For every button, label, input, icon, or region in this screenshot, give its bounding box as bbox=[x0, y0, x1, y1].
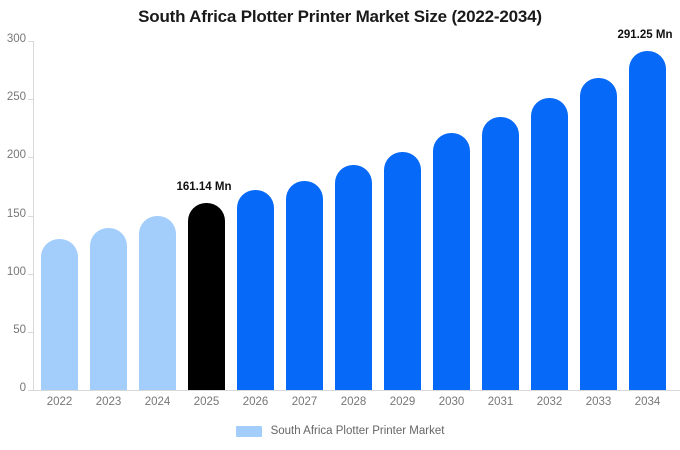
legend-swatch-icon bbox=[236, 426, 262, 437]
y-axis-tick-label: 300 bbox=[0, 33, 26, 45]
x-axis-tick-label: 2029 bbox=[384, 396, 421, 408]
chart-title: South Africa Plotter Printer Market Size… bbox=[0, 7, 680, 27]
y-axis-tick-label: 250 bbox=[0, 91, 26, 103]
y-axis-tick-mark bbox=[28, 41, 33, 42]
x-axis-tick-label: 2033 bbox=[580, 396, 617, 408]
bar-2034[interactable] bbox=[629, 51, 666, 390]
y-axis-tick-label: 100 bbox=[0, 266, 26, 278]
bar-2030[interactable] bbox=[433, 133, 470, 390]
y-axis-tick-mark bbox=[28, 332, 33, 333]
y-axis-tick-label: 0 bbox=[0, 382, 26, 394]
x-axis-line bbox=[33, 390, 680, 391]
x-axis-tick-label: 2032 bbox=[531, 396, 568, 408]
bar-2022[interactable] bbox=[41, 239, 78, 390]
bar-2023[interactable] bbox=[90, 228, 127, 390]
y-axis-tick-mark bbox=[28, 274, 33, 275]
y-axis-tick-mark bbox=[28, 390, 33, 391]
x-axis-tick-label: 2031 bbox=[482, 396, 519, 408]
y-axis-line bbox=[33, 41, 34, 391]
bar-2024[interactable] bbox=[139, 216, 176, 391]
x-axis-tick-label: 2024 bbox=[139, 396, 176, 408]
y-axis-tick-mark bbox=[28, 216, 33, 217]
x-axis-tick-label: 2026 bbox=[237, 396, 274, 408]
x-axis-tick-label: 2025 bbox=[188, 396, 225, 408]
bar-2028[interactable] bbox=[335, 165, 372, 390]
chart-container: South Africa Plotter Printer Market Size… bbox=[0, 0, 680, 450]
y-axis-tick-mark bbox=[28, 99, 33, 100]
x-axis-tick-label: 2034 bbox=[629, 396, 666, 408]
bar-value-label-2025: 161.14 Mn bbox=[177, 181, 232, 193]
chart-legend: South Africa Plotter Printer Market bbox=[0, 425, 680, 437]
y-axis-tick-mark bbox=[28, 157, 33, 158]
x-axis-tick-label: 2028 bbox=[335, 396, 372, 408]
bar-2027[interactable] bbox=[286, 181, 323, 390]
bar-2025[interactable] bbox=[188, 203, 225, 390]
y-axis-tick-label: 150 bbox=[0, 208, 26, 220]
bar-2029[interactable] bbox=[384, 152, 421, 390]
legend-label: South Africa Plotter Printer Market bbox=[271, 425, 445, 437]
x-axis-tick-label: 2027 bbox=[286, 396, 323, 408]
y-axis-tick-label: 50 bbox=[0, 324, 26, 336]
bar-2033[interactable] bbox=[580, 78, 617, 390]
bar-2026[interactable] bbox=[237, 190, 274, 390]
x-axis-tick-label: 2022 bbox=[41, 396, 78, 408]
bar-2031[interactable] bbox=[482, 117, 519, 390]
bar-value-label-2034: 291.25 Mn bbox=[618, 29, 673, 41]
x-axis-tick-label: 2030 bbox=[433, 396, 470, 408]
y-axis-tick-label: 200 bbox=[0, 149, 26, 161]
bar-2032[interactable] bbox=[531, 98, 568, 390]
x-axis-tick-label: 2023 bbox=[90, 396, 127, 408]
